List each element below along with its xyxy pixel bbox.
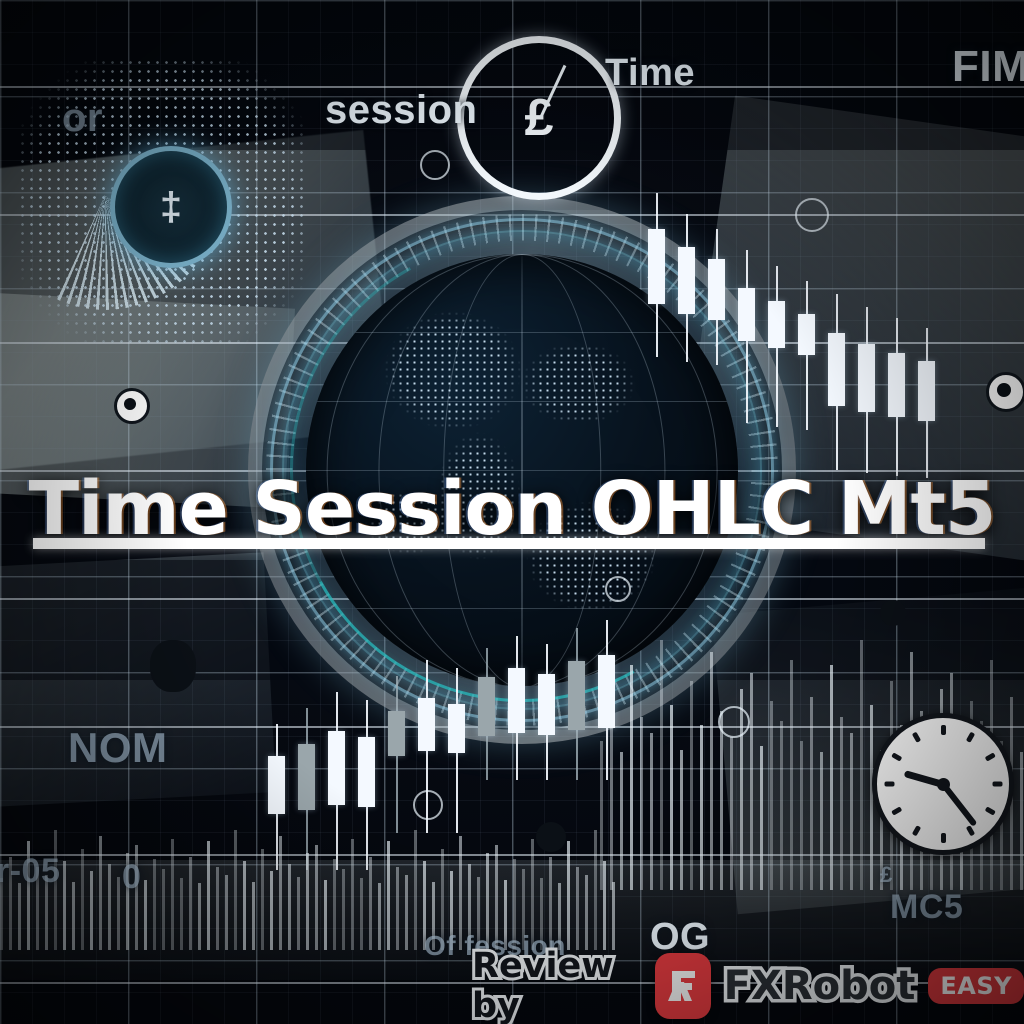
chart-bar: [780, 721, 783, 890]
chart-bar: [710, 652, 713, 890]
chart-bar: [108, 864, 111, 950]
candle-body: [448, 704, 465, 753]
ghost-label-time: Time: [605, 52, 695, 95]
ghost-label-mc5: MC5: [890, 888, 963, 927]
chart-bar: [216, 867, 219, 950]
chart-bar: [99, 836, 102, 950]
currency-symbol-left-icon: ‡: [110, 146, 232, 268]
node-ring-dark-1: [986, 372, 1024, 412]
chart-bar: [630, 665, 633, 890]
chart-bar: [387, 841, 390, 950]
easy-badge: EASY: [928, 968, 1024, 1004]
chart-bar: [576, 867, 579, 950]
clock-tick: [984, 752, 995, 761]
chart-bar: [90, 871, 93, 950]
node-circle-4: [413, 790, 443, 820]
clock-tick: [984, 806, 995, 815]
candle-body: [888, 353, 905, 417]
candle-body: [798, 314, 815, 355]
ink-blob-3: [536, 822, 566, 852]
chart-bar: [243, 861, 246, 950]
review-by-label: Review by: [472, 946, 642, 1024]
chart-bar: [750, 673, 753, 890]
clock-tick: [891, 806, 902, 815]
chart-bar: [117, 877, 120, 950]
candle-body: [768, 301, 785, 348]
clock-tick: [965, 732, 974, 743]
candlestick: [648, 193, 665, 357]
chart-bar: [1020, 752, 1023, 890]
clock-tick: [941, 725, 946, 735]
candlestick: [478, 648, 495, 780]
candle-wick: [806, 281, 808, 430]
banner-canvas: ‡ £ or session Time FIME NOM r-05 0 Of f…: [0, 0, 1024, 1024]
chart-bar: [198, 883, 201, 950]
chart-bar: [760, 746, 763, 890]
chart-bar: [810, 697, 813, 890]
candle-body: [568, 661, 585, 730]
chart-bar: [144, 880, 147, 950]
node-circle-3: [605, 576, 631, 602]
ghost-label-fime: FIME: [952, 42, 1024, 92]
candle-body: [298, 744, 315, 810]
node-circle-5: [718, 706, 750, 738]
chart-bar: [405, 875, 408, 950]
candle-body: [648, 229, 665, 304]
ink-blob-2: [880, 600, 906, 626]
chart-bar: [612, 882, 615, 950]
clock-tick: [911, 732, 920, 743]
candlestick: [738, 250, 755, 423]
chart-bar: [369, 857, 372, 950]
candle-body: [418, 698, 435, 751]
chart-bar: [670, 705, 673, 890]
candlestick: [508, 636, 525, 780]
chart-bar: [81, 849, 84, 950]
candlestick: [568, 628, 585, 780]
candle-body: [388, 711, 405, 756]
candlestick: [858, 307, 875, 473]
node-circle-2: [795, 198, 829, 232]
chart-bar: [171, 839, 174, 950]
chart-bar: [594, 830, 597, 950]
candlestick: [678, 214, 695, 362]
chart-bar: [640, 717, 643, 890]
candle-body: [828, 333, 845, 406]
chart-bar: [585, 875, 588, 950]
chart-bar: [225, 875, 228, 950]
candlestick: [538, 644, 555, 780]
chart-bar: [820, 752, 823, 890]
chart-bar: [360, 878, 363, 950]
chart-bar: [700, 725, 703, 890]
chart-bar: [414, 830, 417, 950]
chart-bar: [840, 717, 843, 890]
candlestick: [388, 676, 405, 833]
chart-bar: [830, 665, 833, 890]
chart-bar: [720, 711, 723, 890]
candle-body: [918, 361, 935, 421]
chart-bar: [396, 867, 399, 950]
ghost-label-session: session: [325, 88, 477, 133]
chart-bar: [790, 660, 793, 890]
candlestick: [888, 318, 905, 476]
chart-bar: [297, 877, 300, 950]
chart-bar: [270, 871, 273, 950]
candle-body: [508, 668, 525, 733]
clock-tick: [941, 833, 946, 843]
ghost-label-nom: NOM: [68, 724, 168, 772]
chart-bar: [72, 882, 75, 950]
chart-bar: [603, 861, 606, 950]
chart-bar: [162, 869, 165, 950]
candlestick: [448, 668, 465, 833]
chart-bar: [279, 836, 282, 950]
candle-body: [328, 731, 345, 805]
chart-bar: [860, 640, 863, 890]
chart-bar: [378, 883, 381, 950]
candlestick: [918, 328, 935, 478]
clock-hub: [937, 778, 950, 791]
candlestick: [798, 281, 815, 430]
ghost-label-zero: 0: [122, 858, 141, 897]
chart-bar: [189, 857, 192, 950]
footer-brand: Review by FXRobot EASY: [472, 946, 1024, 1024]
chart-bar: [680, 750, 683, 890]
chart-bar: [620, 752, 623, 890]
chart-bar: [288, 864, 291, 950]
chart-bar: [252, 882, 255, 950]
chart-bar: [770, 701, 773, 890]
chart-bar: [660, 640, 663, 890]
clock-tick: [992, 782, 1002, 787]
chart-bar: [342, 869, 345, 950]
chart-bar: [650, 733, 653, 890]
chart-bar: [324, 880, 327, 950]
candle-body: [268, 756, 285, 814]
clock-tick: [891, 752, 902, 761]
analog-clock: [872, 713, 1014, 855]
chart-bar: [153, 859, 156, 950]
chart-bar: [207, 841, 210, 950]
chart-bar: [850, 733, 853, 890]
currency-circle-icon: £: [457, 36, 621, 200]
chart-bar: [261, 849, 264, 950]
chart-bar: [730, 737, 733, 890]
chart-bar: [315, 845, 318, 950]
clock-tick: [911, 825, 920, 836]
chart-bar: [18, 883, 21, 950]
candle-body: [858, 344, 875, 412]
title-underline: [33, 538, 985, 549]
node-circle-1: [420, 150, 450, 180]
candlestick: [828, 294, 845, 470]
candle-body: [538, 674, 555, 735]
candle-body: [678, 247, 695, 314]
candlestick: [768, 266, 785, 427]
ghost-label-r05: r-05: [0, 852, 60, 891]
fxrobot-wordmark: FXRobot: [724, 963, 916, 1009]
chart-bar: [306, 853, 309, 950]
fxrobot-logo-icon[interactable]: [655, 953, 711, 1019]
chart-bar: [234, 830, 237, 950]
node-ring-dark-2: [114, 388, 150, 424]
clock-tick: [965, 825, 974, 836]
chart-bar: [351, 839, 354, 950]
currency-symbol-bottom-icon: £: [880, 862, 893, 888]
candlestick: [708, 229, 725, 365]
chart-bar: [63, 861, 66, 950]
chart-bar: [180, 878, 183, 950]
ink-blob-1: [150, 640, 196, 692]
ghost-label-or: or: [62, 96, 103, 141]
clock-tick: [884, 782, 894, 787]
candle-body: [708, 259, 725, 320]
chart-bar: [690, 681, 693, 890]
candle-body: [478, 677, 495, 736]
candle-body: [358, 737, 375, 807]
chart-bar: [800, 741, 803, 890]
candle-body: [738, 288, 755, 341]
chart-bar: [333, 859, 336, 950]
chart-bar: [567, 841, 570, 950]
